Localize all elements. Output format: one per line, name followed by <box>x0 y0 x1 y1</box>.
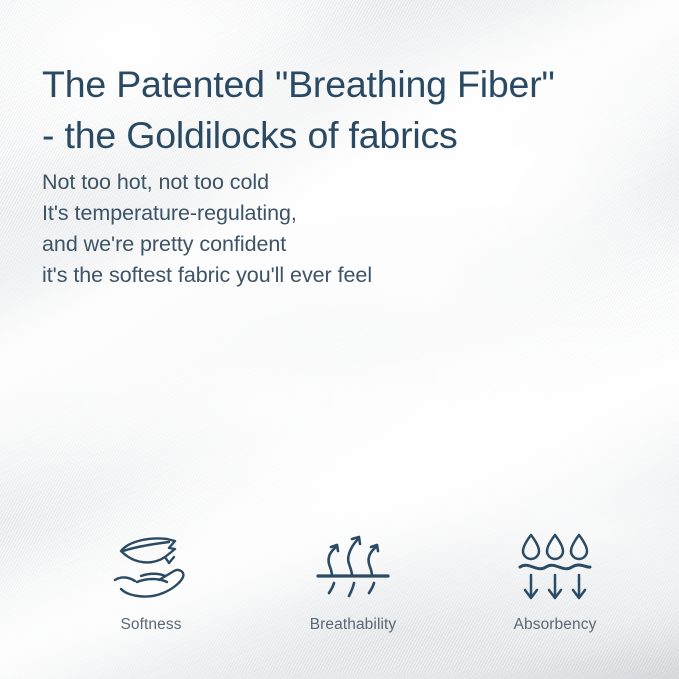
headline: The Patented "Breathing Fiber" - the Gol… <box>42 59 652 161</box>
content-layer: The Patented "Breathing Fiber" - the Gol… <box>0 0 679 679</box>
fabric-promo-image: The Patented "Breathing Fiber" - the Gol… <box>0 0 679 679</box>
feature-softness: Softness <box>58 528 244 634</box>
air-flow-arrows-icon <box>314 528 392 606</box>
body-copy: Not too hot, not too cold It's temperatu… <box>42 167 562 291</box>
feature-breathability: Breathability <box>260 528 446 634</box>
feature-label-breathability: Breathability <box>310 616 397 634</box>
feature-row: Softness <box>58 528 648 634</box>
feature-label-softness: Softness <box>120 616 181 634</box>
water-droplets-absorb-icon <box>515 528 595 606</box>
feature-absorbency: Absorbency <box>462 528 648 634</box>
feather-on-hand-icon <box>109 528 193 606</box>
feature-label-absorbency: Absorbency <box>514 616 597 634</box>
